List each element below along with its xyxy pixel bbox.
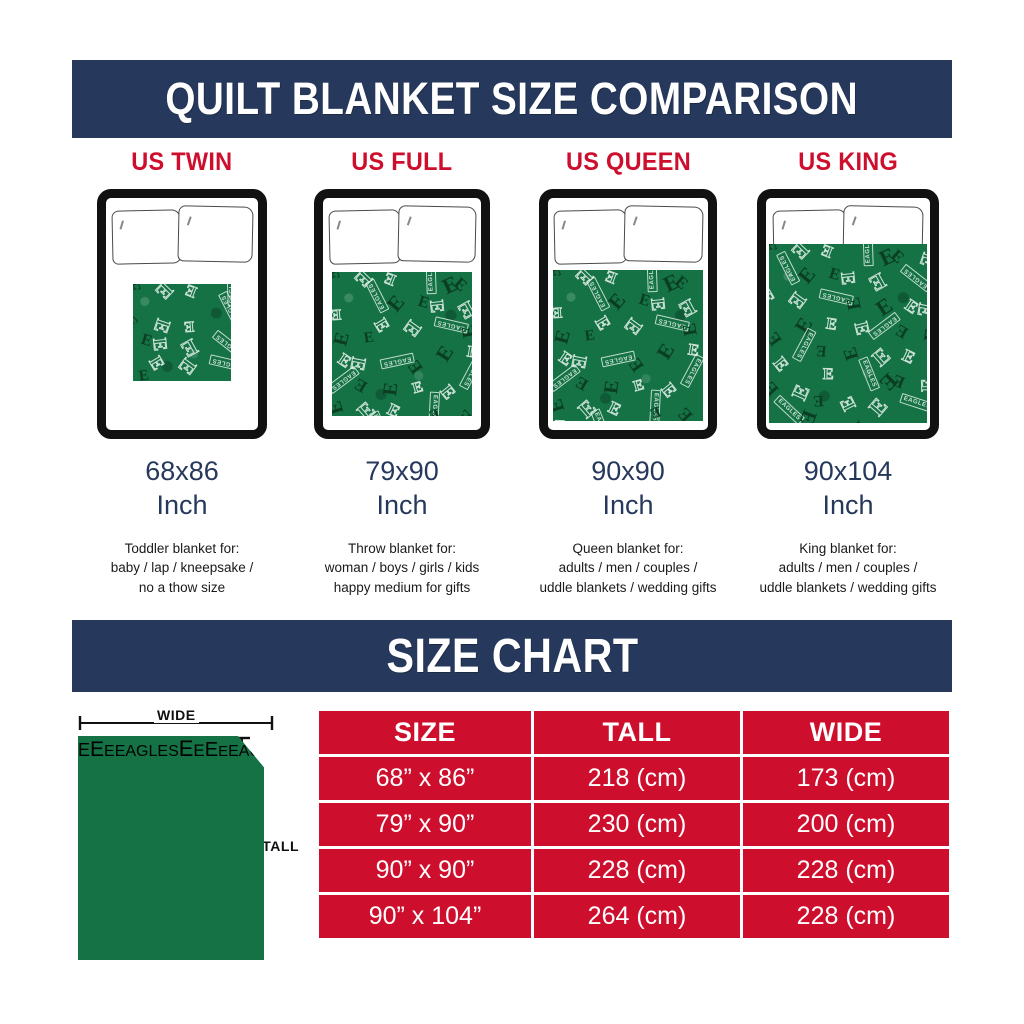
- bed-dimensions-king: 90x104 Inch: [804, 455, 893, 523]
- pattern-motif: E: [332, 399, 347, 416]
- table-row: 90” x 104” 264 (cm) 228 (cm): [319, 895, 949, 938]
- pattern-motif: E: [674, 404, 695, 420]
- pattern-motif: E: [184, 317, 195, 333]
- pattern-motif: E: [647, 297, 667, 312]
- cell-tall: 228 (cm): [534, 849, 740, 892]
- pattern-motif: E: [553, 270, 565, 282]
- column-header-wide: WIDE: [743, 711, 949, 754]
- cell-wide: 228 (cm): [743, 895, 949, 938]
- pillow-group: [554, 205, 701, 265]
- pattern-motif: E: [900, 347, 918, 367]
- table-row: 79” x 90” 230 (cm) 200 (cm): [319, 803, 949, 846]
- pattern-motif: E: [795, 264, 820, 288]
- dimension-unit: Inch: [365, 489, 439, 523]
- bed-card-twin: US TWIN EEEEAGLESEEEEEAGLESEEEEEAGLESEEE…: [72, 148, 292, 608]
- bed-card-full: US FULL EEEEAGLESEEEEEAGLESEEEEEAGLESEEE…: [292, 148, 512, 608]
- pattern-motif: E: [555, 419, 566, 421]
- pattern-motif: EAGLES: [646, 270, 657, 292]
- bed-dimensions-full: 79x90 Inch: [365, 455, 439, 523]
- pattern-motif: E: [606, 398, 624, 418]
- title-banner: QUILT BLANKET SIZE COMPARISON: [72, 60, 952, 138]
- pattern-motif: E: [184, 284, 200, 299]
- pattern-motif: E: [438, 382, 460, 403]
- pillow-right: [397, 205, 476, 263]
- pattern-motif: E: [104, 743, 115, 760]
- pattern-motif: E: [412, 380, 426, 397]
- blanket-swatch-diagram: EEEEAGLESEEEEEAGLESEEEEEAGLESEEEEEAGLESE…: [78, 736, 264, 960]
- blanket-swatch-queen: EEEEAGLESEEEEEAGLESEEEEEAGLESEEEEEAGLESE…: [553, 270, 703, 421]
- table-row: 68” x 86” 218 (cm) 173 (cm): [319, 757, 949, 800]
- pattern-motif: E: [332, 306, 342, 322]
- pattern-motif: E: [925, 403, 926, 418]
- description-line: adults / men / couples /: [513, 558, 743, 578]
- pattern-motif: E: [816, 342, 828, 359]
- bed-description-full: Throw blanket for: woman / boys / girls …: [287, 539, 517, 598]
- cell-tall: 218 (cm): [534, 757, 740, 800]
- bed-title-queen: US QUEEN: [565, 148, 690, 177]
- pattern-motif: E: [680, 322, 701, 338]
- pattern-motif: E: [380, 381, 401, 397]
- bed-title-king: US KING: [798, 148, 898, 177]
- bed-illustration-queen: EEEEAGLESEEEEEAGLESEEEEEAGLESEEEEEAGLESE…: [539, 189, 717, 439]
- pattern-motif: E: [620, 315, 645, 339]
- blanket-swatch-king: EEEEAGLESEEEEEAGLESEEEEEAGLESEEEEEAGLESE…: [769, 244, 926, 423]
- cell-size: 68” x 86”: [319, 757, 531, 800]
- bed-illustration-king: EEEEAGLESEEEEEAGLESEEEEEAGLESEEEEEAGLESE…: [757, 189, 939, 439]
- description-line: Throw blanket for:: [287, 539, 517, 559]
- pillow-right: [623, 205, 703, 263]
- pattern-motif: E: [427, 405, 442, 416]
- pattern-motif: E: [363, 331, 375, 347]
- pattern-motif: E: [844, 419, 867, 423]
- pattern-motif: E: [150, 316, 173, 335]
- cell-tall: 264 (cm): [534, 895, 740, 938]
- dimension-unit: Inch: [804, 489, 893, 523]
- bed-illustration-full: EEEEAGLESEEEEEAGLESEEEEEAGLESEEEEEAGLESE…: [314, 189, 490, 439]
- pattern-motif: E: [823, 367, 834, 383]
- pattern-motif: E: [844, 296, 865, 312]
- pattern-motif: E: [890, 372, 907, 392]
- description-line: Queen blanket for:: [513, 539, 743, 559]
- dimension-value: 90x104: [804, 455, 893, 489]
- tall-label: TALL: [259, 838, 302, 854]
- pattern-motif: E: [147, 353, 169, 373]
- pattern-motif: EAGLES: [863, 244, 874, 266]
- pattern-motif: E: [584, 328, 596, 344]
- pillow-crease: [407, 216, 412, 225]
- pattern-motif: E: [466, 344, 471, 361]
- description-line: Toddler blanket for:: [67, 539, 297, 559]
- pattern-motif: E: [400, 317, 425, 341]
- pattern-motif: E: [837, 394, 860, 414]
- bed-dimensions-queen: 90x90 Inch: [591, 455, 665, 523]
- pattern-motif: E: [553, 328, 574, 346]
- cell-tall: 230 (cm): [534, 803, 740, 846]
- pillow-crease: [120, 221, 125, 230]
- pattern-motif: E: [205, 739, 218, 761]
- description-line: uddle blankets / wedding gifts: [513, 578, 743, 598]
- description-line: happy medium for gifts: [287, 578, 517, 598]
- pattern-motif: E: [632, 378, 646, 395]
- cell-wide: 173 (cm): [743, 757, 949, 800]
- pattern-motif: E: [788, 244, 813, 263]
- dimension-value: 68x86: [145, 455, 219, 489]
- pattern-motif: E: [866, 269, 890, 295]
- description-line: woman / boys / girls / kids: [287, 558, 517, 578]
- pillow-crease: [337, 221, 342, 230]
- pattern-motif: E: [770, 354, 792, 375]
- pillow-right: [177, 205, 253, 263]
- pattern-motif: E: [905, 422, 920, 423]
- description-line: no a thow size: [67, 578, 297, 598]
- column-header-size: SIZE: [319, 711, 531, 754]
- pattern-motif: E: [769, 288, 778, 308]
- blanket-swatch-full: EEEEAGLESEEEEEAGLESEEEEEAGLESEEEEEAGLESE…: [332, 272, 471, 416]
- pattern-motif: E: [813, 392, 824, 409]
- cell-size: 90” x 104”: [319, 895, 531, 938]
- size-chart-table: SIZE TALL WIDE 68” x 86” 218 (cm) 173 (c…: [316, 708, 952, 941]
- pattern-motif: E: [459, 324, 471, 340]
- bed-card-king: US KING EEEEAGLESEEEEEAGLESEEEEEAGLESEEE…: [738, 148, 958, 608]
- pattern-motif: E: [653, 340, 678, 363]
- pattern-motif: E: [152, 284, 177, 303]
- size-comparison-infographic: QUILT BLANKET SIZE COMPARISON US TWIN EE…: [0, 0, 1024, 1024]
- pattern-motif: E: [893, 322, 911, 342]
- pillow-left: [112, 209, 182, 264]
- pattern-motif: E: [138, 368, 150, 381]
- pattern-motif: E: [352, 376, 370, 396]
- pattern-motif: E: [372, 315, 394, 335]
- pattern-motif: E: [218, 743, 228, 760]
- bed-description-twin: Toddler blanket for: baby / lap / kneeps…: [67, 539, 297, 598]
- pattern-motif: E: [604, 289, 629, 313]
- pattern-motif: E: [914, 302, 927, 319]
- size-chart-banner: SIZE CHART: [72, 620, 952, 692]
- cell-wide: 228 (cm): [743, 849, 949, 892]
- pattern-motif: E: [193, 741, 204, 760]
- pattern-motif: E: [383, 272, 399, 287]
- pattern-motif: E: [603, 270, 619, 285]
- description-line: adults / men / couples /: [733, 558, 963, 578]
- pattern-motif: EAGLES: [115, 743, 179, 760]
- bed-card-queen: US QUEEN EEEEAGLESEEEEEAGLESEEEEEAGLESEE…: [518, 148, 738, 608]
- table-row: 90” x 90” 228 (cm) 228 (cm): [319, 849, 949, 892]
- pattern-motif: E: [592, 313, 614, 333]
- pattern-motif: E: [921, 328, 927, 344]
- pattern-motif: EAGLES: [212, 329, 231, 358]
- pattern-motif: E: [700, 276, 703, 295]
- blanket-swatch-twin: EEEEAGLESEEEEEAGLESEEEEEAGLESEEEEEAGLESE…: [133, 284, 230, 381]
- pattern-motif: E: [385, 401, 403, 416]
- bed-description-king: King blanket for: adults / men / couples…: [733, 539, 963, 598]
- pattern-motif: E: [919, 379, 927, 393]
- pillow-group: [112, 205, 252, 265]
- pattern-motif: E: [837, 272, 857, 287]
- pillow-group: [329, 205, 474, 265]
- dimension-value: 90x90: [591, 455, 665, 489]
- pillow-crease: [562, 221, 567, 230]
- pattern-motif: E: [785, 289, 810, 313]
- cell-size: 90” x 90”: [319, 849, 531, 892]
- pattern-motif: E: [454, 407, 472, 416]
- pattern-motif: E: [133, 312, 142, 332]
- pattern-motif: EAGLES: [209, 354, 231, 371]
- pattern-motif: E: [150, 337, 170, 352]
- description-line: King blanket for:: [733, 539, 963, 559]
- pattern-motif: E: [553, 304, 563, 320]
- cell-size: 79” x 90”: [319, 803, 531, 846]
- description-line: uddle blankets / wedding gifts: [733, 578, 963, 598]
- column-header-tall: TALL: [534, 711, 740, 754]
- wide-tall-diagram: WIDE TALL EEEEAGLESEEEEEAGLESEEEEEAGLESE…: [68, 706, 298, 966]
- pillow-crease: [853, 216, 858, 225]
- bed-description-queen: Queen blanket for: adults / men / couple…: [513, 539, 743, 598]
- pattern-motif: E: [384, 292, 409, 316]
- pattern-motif: E: [427, 299, 447, 314]
- bed-comparison-row: US TWIN EEEEAGLESEEEEEAGLESEEEEEAGLESEEE…: [72, 148, 952, 608]
- pillow-left: [329, 209, 402, 264]
- pattern-motif: E: [90, 738, 104, 761]
- bed-title-twin: US TWIN: [131, 148, 232, 177]
- pattern-motif: E: [572, 373, 590, 393]
- dimension-value: 79x90: [365, 455, 439, 489]
- pillow-left: [554, 209, 628, 264]
- pattern-motif: EAGLES: [792, 328, 817, 363]
- pattern-motif: E: [179, 736, 194, 761]
- pattern-motif: E: [675, 295, 699, 321]
- pattern-motif: E: [601, 379, 622, 395]
- pattern-motif: E: [658, 380, 680, 401]
- pattern-motif: EAGLES: [218, 290, 230, 325]
- pattern-motif: E: [820, 244, 836, 259]
- pattern-motif: E: [702, 408, 703, 421]
- bed-dimensions-twin: 68x86 Inch: [145, 455, 219, 523]
- pattern-motif: EAGLES: [459, 356, 471, 391]
- pattern-motif: E: [553, 396, 568, 414]
- dimension-unit: Inch: [145, 489, 219, 523]
- table-header-row: SIZE TALL WIDE: [319, 711, 949, 754]
- page-title: QUILT BLANKET SIZE COMPARISON: [166, 73, 859, 125]
- pattern-motif: E: [332, 330, 353, 348]
- bed-illustration-twin: EEEEAGLESEEEEEAGLESEEEEEAGLESEEEEEAGLESE…: [97, 189, 267, 439]
- pattern-motif: E: [872, 420, 898, 423]
- pillow-crease: [633, 216, 638, 225]
- pattern-motif: E: [433, 342, 458, 365]
- description-line: baby / lap / kneepsake /: [67, 558, 297, 578]
- pattern-motif: E: [455, 297, 471, 323]
- cell-wide: 200 (cm): [743, 803, 949, 846]
- pattern-motif: E: [869, 344, 895, 370]
- pattern-motif: E: [789, 382, 814, 403]
- pattern-motif: E: [133, 284, 145, 296]
- pattern-motif: E: [796, 408, 821, 423]
- size-chart-title: SIZE CHART: [386, 629, 638, 684]
- pillow-crease: [186, 216, 191, 225]
- pattern-motif: EAGLES: [426, 272, 437, 294]
- pattern-motif: E: [916, 251, 926, 270]
- pattern-motif: E: [78, 740, 90, 760]
- pattern-motif: EAGLES: [900, 393, 927, 413]
- bed-title-full: US FULL: [351, 148, 452, 177]
- pattern-motif: E: [825, 317, 838, 334]
- pattern-motif: E: [332, 272, 344, 284]
- wide-label: WIDE: [154, 707, 199, 723]
- pattern-motif: E: [769, 329, 785, 349]
- pillow-crease: [781, 221, 786, 230]
- pattern-motif: E: [865, 395, 891, 421]
- dimension-unit: Inch: [591, 489, 665, 523]
